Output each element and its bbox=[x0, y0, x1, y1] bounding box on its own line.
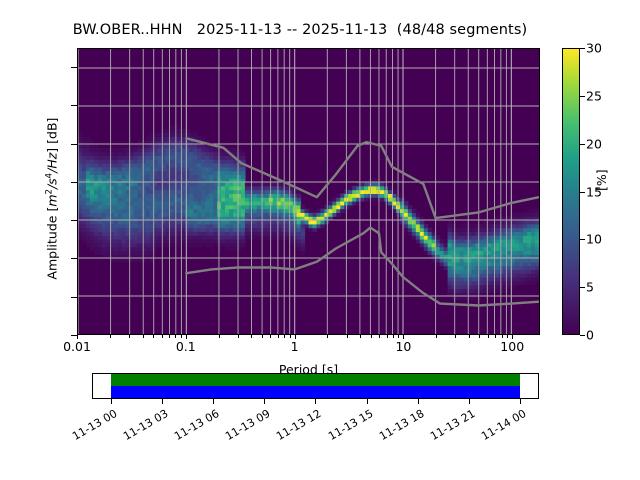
x-minor-tick bbox=[495, 335, 496, 338]
timeline-tick-label: 11-13 18 bbox=[366, 407, 426, 449]
data-coverage-bar[interactable] bbox=[111, 374, 520, 386]
x-tick-label: 0.01 bbox=[63, 339, 91, 354]
timeline-tick-mark bbox=[162, 399, 163, 404]
x-tick-label: 100 bbox=[500, 339, 524, 354]
y-tick-mark bbox=[71, 182, 77, 183]
colorbar-tick-label: 5 bbox=[586, 280, 594, 295]
y-axis-title: Amplitude [m2/s4/Hz] [dB] bbox=[44, 54, 59, 344]
psd-segments-bar[interactable] bbox=[111, 386, 520, 398]
timeline-tick-label: 11-13 06 bbox=[161, 407, 221, 449]
x-minor-tick bbox=[143, 335, 144, 338]
x-minor-tick bbox=[278, 335, 279, 338]
colorbar-tick-mark bbox=[580, 96, 585, 97]
x-minor-tick bbox=[479, 335, 480, 338]
x-minor-tick bbox=[219, 335, 220, 338]
x-minor-tick bbox=[387, 335, 388, 338]
colorbar-tick-label: 10 bbox=[586, 232, 602, 247]
x-minor-tick bbox=[251, 335, 252, 338]
x-minor-tick bbox=[347, 335, 348, 338]
colorbar-tick-label: 0 bbox=[586, 328, 594, 343]
y-tick-mark bbox=[71, 67, 77, 68]
colorbar-tick-label: 20 bbox=[586, 136, 602, 151]
x-minor-tick bbox=[262, 335, 263, 338]
colorbar-tick-mark bbox=[580, 144, 585, 145]
colorbar-tick-mark bbox=[580, 287, 585, 288]
timeline-strip[interactable] bbox=[92, 373, 539, 399]
timeline-tick-mark bbox=[418, 399, 419, 404]
x-minor-tick bbox=[436, 335, 437, 338]
x-minor-tick bbox=[502, 335, 503, 338]
timeline-tick-mark bbox=[469, 399, 470, 404]
colorbar-title: [%] bbox=[594, 169, 609, 191]
timeline-tick-label: 11-13 15 bbox=[315, 407, 375, 449]
x-minor-tick bbox=[371, 335, 372, 338]
figure-title: BW.OBER..HHN 2025-11-13 -- 2025-11-13 (4… bbox=[0, 22, 600, 38]
colorbar-tick-mark bbox=[580, 192, 585, 193]
ppsd-axes[interactable] bbox=[77, 48, 540, 335]
timeline-tick-mark bbox=[315, 399, 316, 404]
timeline-tick-mark bbox=[111, 399, 112, 404]
x-minor-tick bbox=[398, 335, 399, 338]
x-minor-tick bbox=[153, 335, 154, 338]
timeline-tick-label: 11-13 09 bbox=[213, 407, 273, 449]
timeline-tick-mark bbox=[213, 399, 214, 404]
x-minor-tick bbox=[290, 335, 291, 338]
x-tick-label: 1 bbox=[291, 339, 299, 354]
timeline-tick-label: 11-13 00 bbox=[59, 407, 119, 449]
colorbar-tick-mark bbox=[580, 335, 585, 336]
x-minor-tick bbox=[507, 335, 508, 338]
x-minor-tick bbox=[110, 335, 111, 338]
y-tick-mark bbox=[71, 144, 77, 145]
timeline-tick-label: 11-13 03 bbox=[110, 407, 170, 449]
colorbar bbox=[562, 48, 580, 335]
x-tick-label: 0.1 bbox=[176, 339, 196, 354]
y-tick-mark bbox=[71, 297, 77, 298]
x-minor-tick bbox=[181, 335, 182, 338]
x-minor-tick bbox=[455, 335, 456, 338]
ppsd-figure: BW.OBER..HHN 2025-11-13 -- 2025-11-13 (4… bbox=[0, 0, 640, 480]
colorbar-tick-mark bbox=[580, 48, 585, 49]
y-tick-mark bbox=[71, 220, 77, 221]
colorbar-tick-mark bbox=[580, 239, 585, 240]
timeline-tick-mark bbox=[520, 399, 521, 404]
x-minor-tick bbox=[327, 335, 328, 338]
x-tick-label: 10 bbox=[395, 339, 411, 354]
x-minor-tick bbox=[238, 335, 239, 338]
x-minor-tick bbox=[393, 335, 394, 338]
x-minor-tick bbox=[162, 335, 163, 338]
x-minor-tick bbox=[175, 335, 176, 338]
ppsd-density-plot bbox=[78, 49, 539, 334]
x-minor-tick bbox=[270, 335, 271, 338]
x-minor-tick bbox=[129, 335, 130, 338]
x-minor-tick bbox=[360, 335, 361, 338]
timeline-tick-label: 11-14 00 bbox=[468, 407, 528, 449]
x-minor-tick bbox=[469, 335, 470, 338]
x-minor-tick bbox=[169, 335, 170, 338]
x-minor-tick bbox=[488, 335, 489, 338]
colorbar-tick-label: 30 bbox=[586, 41, 602, 56]
timeline-tick-label: 11-13 12 bbox=[264, 407, 324, 449]
y-tick-mark bbox=[71, 105, 77, 106]
timeline-tick-mark bbox=[264, 399, 265, 404]
y-tick-mark bbox=[71, 258, 77, 259]
timeline-tick-label: 11-13 21 bbox=[417, 407, 477, 449]
colorbar-tick-label: 25 bbox=[586, 88, 602, 103]
x-minor-tick bbox=[379, 335, 380, 338]
x-minor-tick bbox=[284, 335, 285, 338]
timeline-tick-mark bbox=[367, 399, 368, 404]
